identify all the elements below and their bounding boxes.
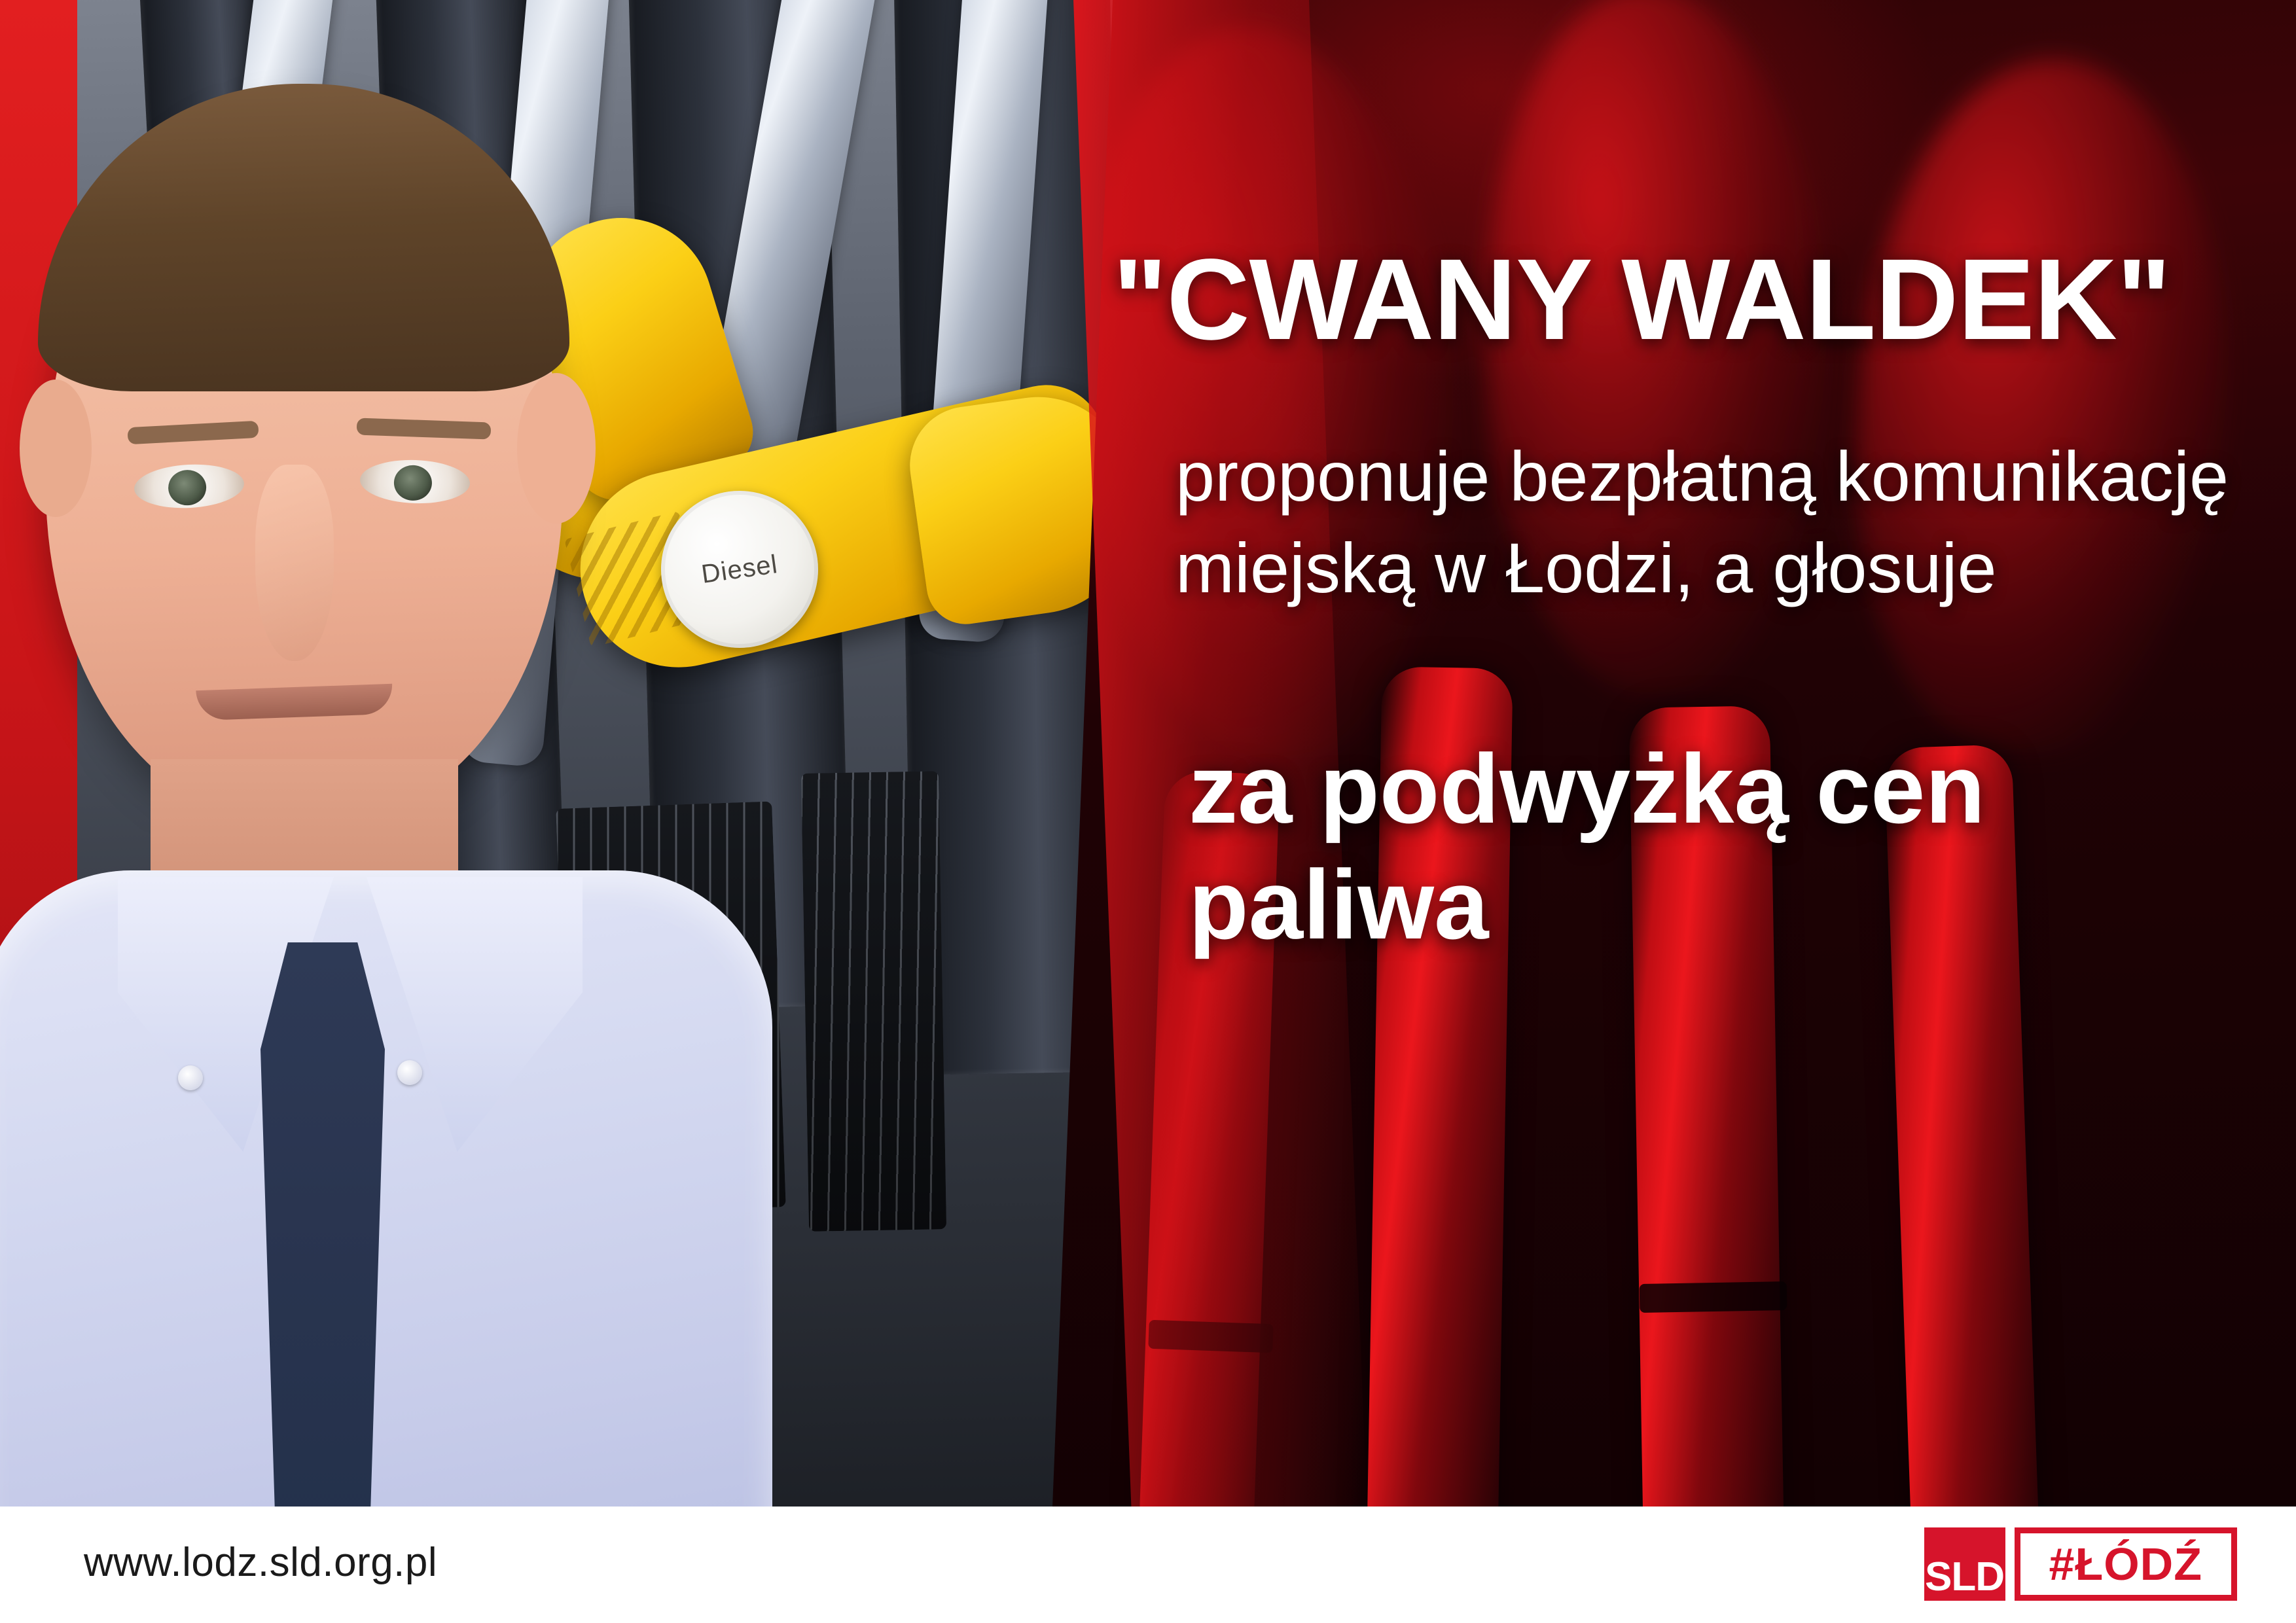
- poster-body-text: proponuje bezpłatną komunikację miejską …: [1175, 431, 2249, 615]
- iris: [393, 465, 433, 501]
- poster-copy-block: "CWANY WALDEK" proponuje bezpłatną komun…: [1113, 242, 2284, 963]
- hair: [38, 84, 569, 391]
- poster-image-area: Diesel: [0, 0, 2296, 1507]
- campaign-poster: Diesel: [0, 0, 2296, 1623]
- collar-button: [178, 1065, 203, 1090]
- sld-logo-mark: SLD: [1924, 1527, 2005, 1601]
- sld-lodz-logo: SLD #ŁÓDŹ: [1924, 1527, 2237, 1601]
- nose: [255, 465, 334, 661]
- lodz-tag-box: #ŁÓDŹ: [2015, 1527, 2237, 1601]
- sld-logo-text: SLD: [1925, 1558, 2004, 1597]
- fuel-station-photo: Diesel: [0, 0, 1152, 1507]
- poster-footer: www.lodz.sld.org.pl SLD #ŁÓDŹ: [0, 1507, 2296, 1623]
- lodz-tag-text: #ŁÓDŹ: [2049, 1541, 2202, 1587]
- iris: [168, 469, 207, 507]
- poster-emphasis-text: za podwyżką cen paliwa: [1189, 731, 2210, 963]
- pump-grill-panel: [801, 771, 946, 1232]
- hose-band: [1640, 1281, 1787, 1313]
- collar-button: [397, 1060, 422, 1085]
- ear-left: [20, 380, 92, 517]
- necktie: [260, 942, 385, 1507]
- ear-right: [517, 373, 596, 524]
- candidate-portrait: [0, 98, 772, 1507]
- dress-shirt: [0, 870, 772, 1507]
- poster-headline: "CWANY WALDEK": [1113, 242, 2284, 357]
- website-url[interactable]: www.lodz.sld.org.pl: [84, 1539, 437, 1586]
